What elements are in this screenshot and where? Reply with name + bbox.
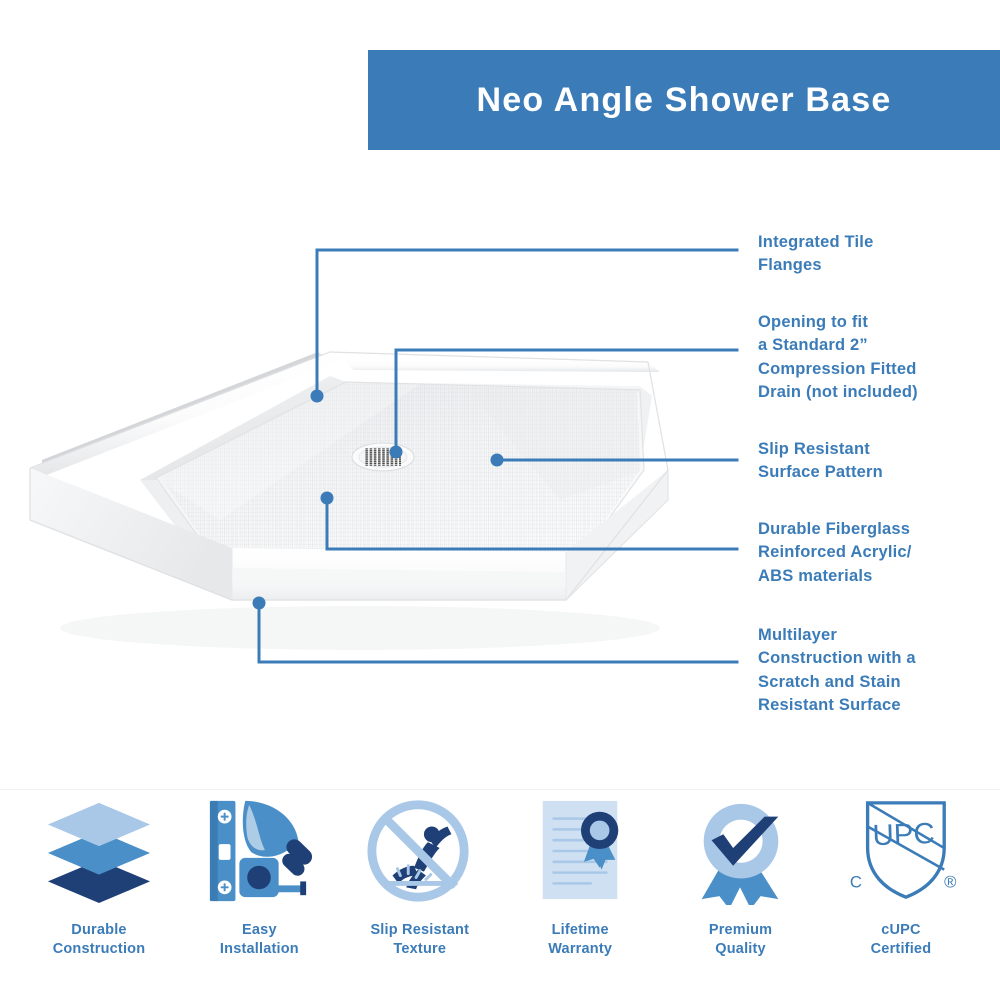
feature-label-durable-construction: Durable Construction <box>53 921 146 959</box>
feature-easy-installation: Easy Installation <box>184 795 334 959</box>
leader-multilayer <box>259 603 737 662</box>
upc-right-mark: ® <box>944 872 957 891</box>
callout-drain-opening: Opening to fit a Standard 2” Compression… <box>758 311 1000 405</box>
feature-lifetime-warranty: Lifetime Warranty <box>505 795 655 959</box>
checkmark-rosette-icon <box>680 795 802 907</box>
feature-slip-resistant-texture: Slip Resistant Texture <box>345 795 495 959</box>
feature-premium-quality: Premium Quality <box>666 795 816 959</box>
feature-label-premium-quality: Premium Quality <box>709 921 772 959</box>
feature-cupc-certified: UPC C ® cUPC Certified <box>826 795 976 959</box>
upc-left-mark: C <box>850 872 862 891</box>
upc-shield-icon: UPC C ® <box>840 795 962 907</box>
feature-label-easy-installation: Easy Installation <box>220 921 299 959</box>
page-title: Neo Angle Shower Base <box>476 81 891 120</box>
layered-diamonds-icon <box>38 795 160 907</box>
callout-dot-durable-fiberglass <box>321 492 334 505</box>
leader-integrated-tile-flanges <box>317 250 737 396</box>
callout-dot-slip-resistant <box>491 454 504 467</box>
callout-durable-fiberglass: Durable Fiberglass Reinforced Acrylic/ A… <box>758 518 1000 588</box>
upc-shield-letters: UPC <box>872 817 935 852</box>
feature-label-slip-resistant-texture: Slip Resistant Texture <box>370 921 469 959</box>
leader-durable-fiberglass <box>327 498 737 549</box>
callout-dot-integrated-tile-flanges <box>311 390 324 403</box>
infographic-page: Neo Angle Shower Base <box>0 0 1000 1000</box>
callout-multilayer-construction: Multilayer Construction with a Scratch a… <box>758 624 1000 718</box>
callout-dot-drain-opening <box>390 446 403 459</box>
callout-integrated-tile-flanges: Integrated Tile Flanges <box>758 231 1000 278</box>
no-slip-sign-icon <box>359 795 481 907</box>
feature-durable-construction: Durable Construction <box>24 795 174 959</box>
certificate-rosette-icon <box>519 795 641 907</box>
leader-drain-opening <box>396 350 737 452</box>
drain-grate <box>352 443 414 471</box>
feature-label-lifetime-warranty: Lifetime Warranty <box>548 921 612 959</box>
level-and-trowel-icon <box>198 795 320 907</box>
title-banner: Neo Angle Shower Base <box>368 50 1000 150</box>
callout-slip-resistant-surface: Slip Resistant Surface Pattern <box>758 438 1000 485</box>
section-divider <box>0 789 1000 790</box>
feature-label-cupc-certified: cUPC Certified <box>871 921 932 959</box>
feature-badges-row: Durable Construction <box>0 795 1000 975</box>
callout-dot-multilayer <box>253 597 266 610</box>
